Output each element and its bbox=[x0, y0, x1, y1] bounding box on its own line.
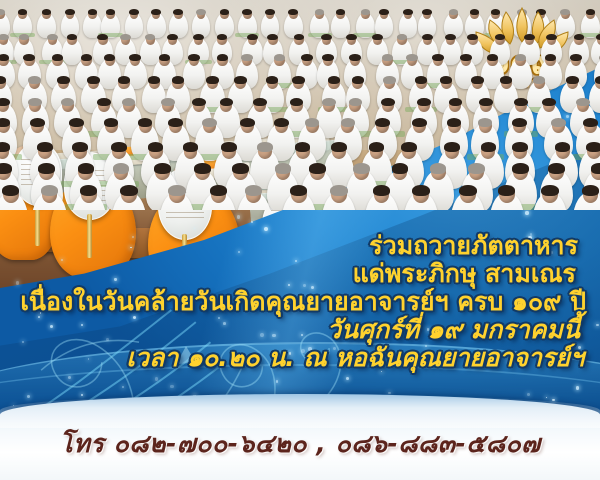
person-hair bbox=[460, 54, 472, 61]
sparkle bbox=[170, 385, 173, 388]
person-hair bbox=[533, 76, 546, 84]
sparkle bbox=[527, 393, 531, 397]
person-hair bbox=[30, 118, 45, 127]
person-hair bbox=[138, 118, 153, 127]
person-hair bbox=[217, 54, 229, 61]
person-hair bbox=[129, 54, 141, 61]
person-hair bbox=[120, 34, 131, 41]
person-hair bbox=[430, 163, 447, 173]
sparkle bbox=[237, 215, 241, 219]
person-hair bbox=[168, 185, 186, 196]
person-hair bbox=[440, 76, 453, 84]
person-hair bbox=[122, 98, 136, 107]
person-hair bbox=[512, 142, 528, 152]
person-hair bbox=[422, 34, 433, 41]
contact-phone-line: โทร ๐๘๒-๗๐๐-๖๔๒๐ , ๐๘๖-๘๘๓-๕๘๐๗ bbox=[0, 424, 600, 464]
person-hair bbox=[28, 98, 42, 107]
person-hair bbox=[449, 98, 463, 107]
person-hair bbox=[321, 34, 332, 41]
person-hair bbox=[349, 54, 361, 61]
person-hair bbox=[412, 118, 427, 127]
person-hair bbox=[468, 163, 485, 173]
person-hair bbox=[551, 118, 566, 127]
person-hair bbox=[78, 163, 95, 173]
person-hair bbox=[582, 185, 600, 196]
person-hair bbox=[352, 76, 365, 84]
person-hair bbox=[81, 54, 93, 61]
person-hair bbox=[188, 54, 200, 61]
person-hair bbox=[202, 118, 217, 127]
sparkle bbox=[546, 397, 547, 398]
sparkle bbox=[251, 221, 253, 223]
person-hair bbox=[346, 34, 357, 41]
person-hair bbox=[234, 76, 247, 84]
poster-root: ร่วมถวายภัตตาหาร แด่พระภิกษุ สามเณร เนื่… bbox=[0, 0, 600, 480]
person-hair bbox=[432, 54, 444, 61]
person-hair bbox=[41, 185, 59, 196]
person-hair bbox=[548, 163, 565, 173]
person-hair bbox=[412, 185, 430, 196]
person-hair bbox=[353, 163, 370, 173]
person-hair bbox=[167, 34, 178, 41]
person-hair bbox=[154, 163, 171, 173]
person-hair bbox=[118, 76, 131, 84]
person-hair bbox=[267, 34, 278, 41]
person-hair bbox=[595, 76, 600, 84]
person-hair bbox=[87, 76, 100, 84]
headline-line-3: เนื่องในวันคล้ายวันเกิดคุณยายอาจารย์ฯ คร… bbox=[0, 288, 594, 316]
person-hair bbox=[206, 76, 219, 84]
person-hair bbox=[113, 163, 130, 173]
headline-line-4: วันศุกร์ที่ ๑๙ มกราคมนี้ bbox=[0, 316, 594, 344]
person-hair bbox=[498, 185, 516, 196]
sparkle bbox=[566, 115, 569, 118]
person-hair bbox=[383, 76, 396, 84]
sparkle bbox=[264, 227, 268, 231]
person-hair bbox=[401, 142, 417, 152]
person-hair bbox=[38, 163, 55, 173]
person-hair bbox=[80, 185, 98, 196]
person-hair bbox=[220, 98, 234, 107]
person-hair bbox=[375, 118, 390, 127]
person-hair bbox=[275, 163, 292, 173]
person-hair bbox=[172, 76, 185, 84]
person-hair bbox=[322, 54, 334, 61]
person-hair bbox=[221, 142, 237, 152]
person-hair bbox=[481, 142, 497, 152]
person-hair bbox=[290, 185, 308, 196]
sparkle bbox=[576, 386, 579, 389]
person-hair bbox=[241, 54, 253, 61]
person-hair bbox=[467, 34, 478, 41]
person-hair bbox=[369, 142, 385, 152]
person-hair bbox=[192, 98, 206, 107]
person-hair bbox=[546, 34, 557, 41]
person-hair bbox=[583, 118, 598, 127]
person-hair bbox=[120, 185, 138, 196]
person-hair bbox=[459, 185, 477, 196]
sparkle bbox=[194, 228, 195, 229]
person-hair bbox=[447, 118, 462, 127]
person-hair bbox=[331, 142, 347, 152]
sparkle bbox=[525, 211, 528, 214]
bottom-band-gloss bbox=[0, 394, 600, 428]
person-hair bbox=[0, 118, 10, 127]
person-hair bbox=[515, 54, 527, 61]
person-hair bbox=[397, 34, 408, 41]
person-hair bbox=[104, 118, 119, 127]
person-hair bbox=[266, 76, 279, 84]
person-hair bbox=[232, 163, 249, 173]
headline-block: ร่วมถวายภัตตาหาร แด่พระภิกษุ สามเณร เนื่… bbox=[0, 232, 594, 372]
person-hair bbox=[381, 98, 395, 107]
person-hair bbox=[415, 76, 428, 84]
person-hair bbox=[524, 34, 535, 41]
person-hair bbox=[471, 76, 484, 84]
person-hair bbox=[512, 163, 529, 173]
person-hair bbox=[487, 54, 499, 61]
person-hair bbox=[328, 76, 341, 84]
person-hair bbox=[591, 163, 600, 173]
person-hair bbox=[19, 34, 30, 41]
person-hair bbox=[445, 34, 456, 41]
person-hair bbox=[97, 34, 108, 41]
person-hair bbox=[512, 118, 527, 127]
person-hair bbox=[97, 98, 111, 107]
person-hair bbox=[555, 142, 571, 152]
person-hair bbox=[69, 118, 84, 127]
person-hair bbox=[576, 98, 590, 107]
person-hair bbox=[168, 118, 183, 127]
person-hair bbox=[301, 54, 313, 61]
person-hair bbox=[372, 34, 383, 41]
person-hair bbox=[148, 142, 164, 152]
person-hair bbox=[145, 34, 156, 41]
person-hair bbox=[495, 34, 506, 41]
person-hair bbox=[148, 76, 161, 84]
person-hair bbox=[37, 142, 53, 152]
person-hair bbox=[2, 185, 20, 196]
person-hair bbox=[28, 76, 41, 84]
person-hair bbox=[341, 118, 356, 127]
person-hair bbox=[193, 34, 204, 41]
sparkle bbox=[346, 377, 349, 380]
person-hair bbox=[570, 54, 582, 61]
person-hair bbox=[349, 98, 363, 107]
person-hair bbox=[194, 163, 211, 173]
person-hair bbox=[542, 98, 556, 107]
person-hair bbox=[257, 142, 273, 152]
headline-line-5: เวลา ๑๐.๒๐ น. ณ หอฉันคุณยายอาจารย์ฯ bbox=[0, 344, 594, 372]
person-hair bbox=[574, 34, 585, 41]
person-hair bbox=[67, 34, 78, 41]
sparkle bbox=[155, 377, 159, 381]
person-hair bbox=[274, 118, 289, 127]
person-hair bbox=[417, 98, 431, 107]
person-hair bbox=[47, 34, 58, 41]
person-hair bbox=[309, 163, 326, 173]
person-hair bbox=[444, 142, 460, 152]
person-hair bbox=[210, 185, 228, 196]
person-hair bbox=[290, 98, 304, 107]
person-hair bbox=[541, 185, 559, 196]
person-hair bbox=[292, 76, 305, 84]
person-hair bbox=[294, 34, 305, 41]
person-hair bbox=[0, 163, 12, 173]
person-hair bbox=[514, 98, 528, 107]
sparkle bbox=[68, 376, 71, 379]
person-hair bbox=[61, 98, 75, 107]
sparkle bbox=[81, 394, 83, 396]
person-hair bbox=[245, 185, 263, 196]
person-hair bbox=[322, 98, 336, 107]
person-hair bbox=[596, 34, 600, 41]
person-hair bbox=[72, 142, 88, 152]
headline-line-1: ร่วมถวายภัตตาหาร bbox=[0, 232, 594, 260]
person-hair bbox=[330, 185, 348, 196]
person-hair bbox=[217, 34, 228, 41]
sparkle bbox=[122, 386, 124, 388]
person-hair bbox=[406, 54, 418, 61]
sparkle bbox=[596, 324, 599, 327]
person-hair bbox=[295, 142, 311, 152]
person-hair bbox=[566, 76, 579, 84]
person-hair bbox=[161, 98, 175, 107]
person-hair bbox=[500, 76, 513, 84]
person-hair bbox=[479, 98, 493, 107]
headline-line-2: แด่พระภิกษุ สามเณร bbox=[0, 260, 594, 288]
person-hair bbox=[392, 163, 409, 173]
sparkle bbox=[27, 395, 30, 398]
person-hair bbox=[478, 118, 493, 127]
person-hair bbox=[305, 118, 320, 127]
person-hair bbox=[240, 118, 255, 127]
person-hair bbox=[586, 142, 600, 152]
person-hair bbox=[373, 185, 391, 196]
sparkle bbox=[276, 380, 279, 383]
person-hair bbox=[0, 34, 9, 41]
person-hair bbox=[247, 34, 258, 41]
person-hair bbox=[57, 76, 70, 84]
person-hair bbox=[111, 142, 127, 152]
person-hair bbox=[253, 98, 267, 107]
person-hair bbox=[183, 142, 199, 152]
